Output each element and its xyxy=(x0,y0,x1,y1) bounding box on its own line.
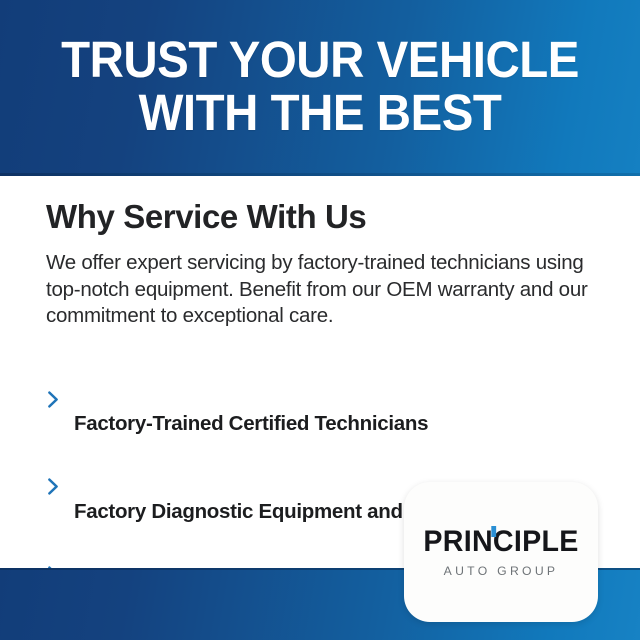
list-item-label: Factory-Trained Certified Technicians xyxy=(74,412,428,435)
list-item-label: Factory Diagnostic Equipment and Tools xyxy=(74,500,460,523)
chevron-right-icon xyxy=(47,366,61,383)
logo-accent-mark xyxy=(491,526,496,537)
logo-wordmark-text: PRINCIPLE xyxy=(423,525,578,558)
intro-paragraph: We offer expert servicing by factory-tra… xyxy=(46,250,612,330)
page-title: Why Service With Us xyxy=(46,198,616,236)
chevron-right-icon xyxy=(47,454,61,471)
logo-wordmark: PRINCIPLE xyxy=(423,527,578,557)
header-banner: TRUST YOUR VEHICLE WITH THE BEST xyxy=(0,0,640,176)
brand-logo-card: PRINCIPLE AUTO GROUP xyxy=(404,482,598,622)
list-item: Factory-Trained Certified Technicians xyxy=(46,363,606,437)
intro-section: Why Service With Us We offer expert serv… xyxy=(46,198,616,330)
headline: TRUST YOUR VEHICLE WITH THE BEST xyxy=(22,33,617,139)
chevron-right-icon xyxy=(47,541,61,558)
logo-tagline: AUTO GROUP xyxy=(444,564,559,578)
service-promo-graphic: TRUST YOUR VEHICLE WITH THE BEST Why Ser… xyxy=(0,0,640,640)
